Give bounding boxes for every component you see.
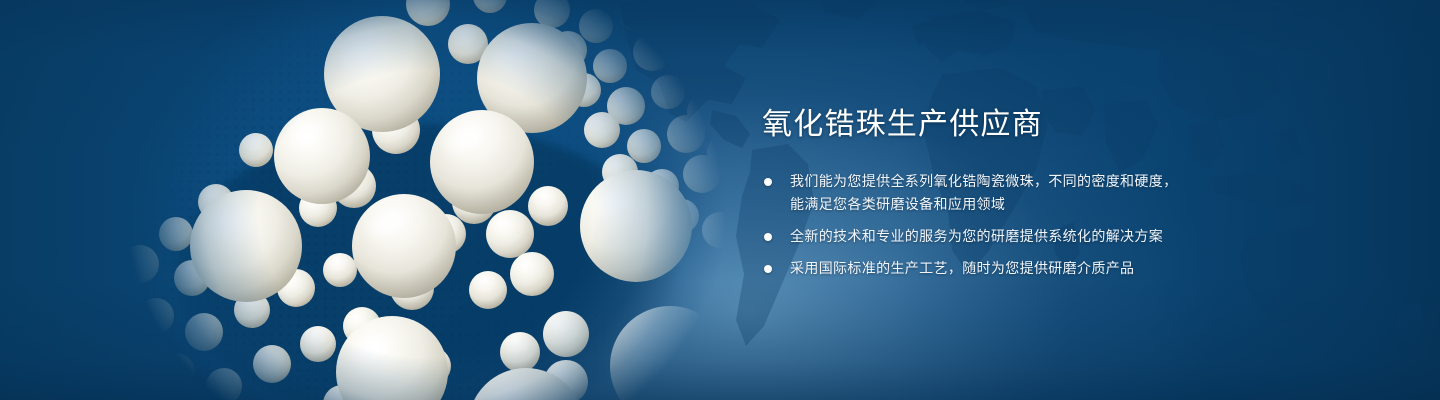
bullet-dot-icon xyxy=(764,265,772,273)
hero-banner: 氧化锆珠生产供应商 我们能为您提供全系列氧化锆陶瓷微珠，不同的密度和硬度， 能满… xyxy=(0,0,1440,400)
feature-item: 采用国际标准的生产工艺，随时为您提供研磨介质产品 xyxy=(762,257,1222,280)
feature-item: 全新的技术和专业的服务为您的研磨提供系统化的解决方案 xyxy=(762,225,1222,248)
bullet-dot-icon xyxy=(764,233,772,241)
feature-line: 我们能为您提供全系列氧化锆陶瓷微珠，不同的密度和硬度， xyxy=(790,170,1222,193)
feature-line: 能满足您各类研磨设备和应用领域 xyxy=(790,193,1222,216)
feature-line: 全新的技术和专业的服务为您的研磨提供系统化的解决方案 xyxy=(790,225,1222,248)
bullet-dot-icon xyxy=(764,178,772,186)
banner-copy: 氧化锆珠生产供应商 我们能为您提供全系列氧化锆陶瓷微珠，不同的密度和硬度， 能满… xyxy=(762,106,1222,280)
banner-background-vignette xyxy=(0,0,1440,400)
banner-headline: 氧化锆珠生产供应商 xyxy=(762,106,1222,144)
feature-line: 采用国际标准的生产工艺，随时为您提供研磨介质产品 xyxy=(790,257,1222,280)
banner-feature-list: 我们能为您提供全系列氧化锆陶瓷微珠，不同的密度和硬度， 能满足您各类研磨设备和应… xyxy=(762,170,1222,280)
feature-item: 我们能为您提供全系列氧化锆陶瓷微珠，不同的密度和硬度， 能满足您各类研磨设备和应… xyxy=(762,170,1222,216)
